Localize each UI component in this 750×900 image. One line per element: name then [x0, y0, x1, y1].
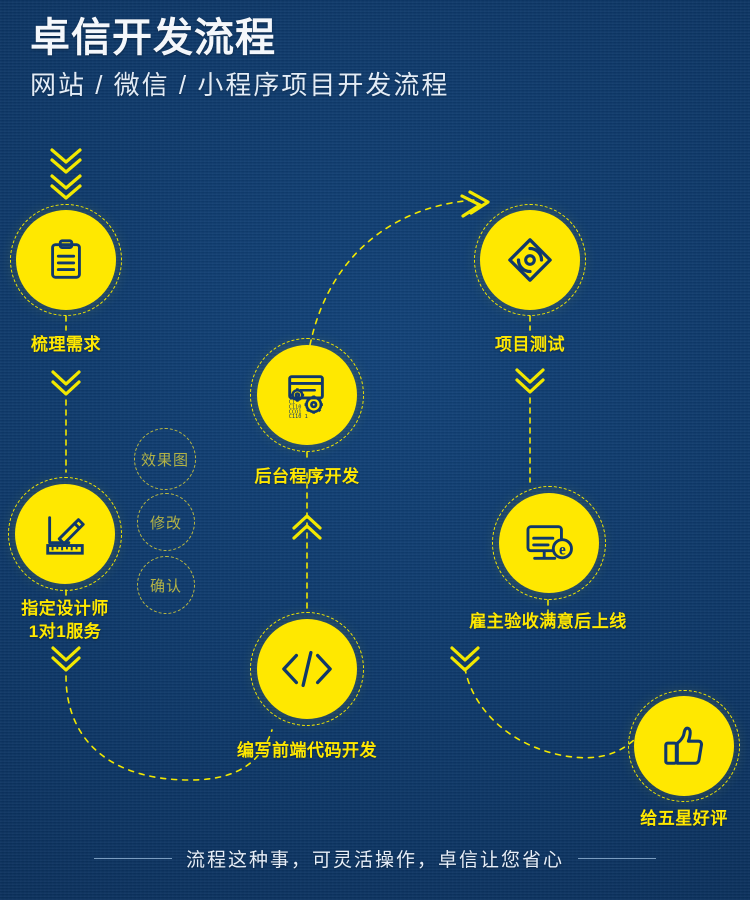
- step-disc-1[interactable]: [16, 210, 116, 310]
- flowchart-page: 卓信开发流程 网站 / 微信 / 小程序项目开发流程: [0, 0, 750, 900]
- bubble-label-rendering: 效果图: [141, 449, 189, 470]
- step-disc-6[interactable]: e: [499, 493, 599, 593]
- chevron-top-1: [52, 150, 80, 172]
- svg-text:e: e: [559, 541, 566, 558]
- backend-gears-icon: C1 C110 CCO1 C110 1: [282, 370, 332, 420]
- step-label-5: 项目测试: [464, 334, 596, 357]
- chevron-top-2: [52, 176, 80, 198]
- footer-line-left: [94, 858, 172, 859]
- footer-banner: 流程这种事，可灵活操作，卓信让您省心: [0, 845, 750, 872]
- wire-step3-to-step5: [310, 200, 475, 345]
- chevron-step6-down: [452, 648, 478, 670]
- svg-text:C110 1: C110 1: [289, 414, 308, 420]
- diamond-target-icon: [506, 236, 554, 284]
- ruler-pencil-icon: [40, 510, 90, 558]
- wire-step6-to-step7: [465, 668, 634, 758]
- step-label-2: 指定设计师 1对1服务: [0, 598, 135, 644]
- step-disc-3[interactable]: C1 C110 CCO1 C110 1: [257, 345, 357, 445]
- wire-step2-to-step4: [66, 676, 272, 780]
- bubble-revision[interactable]: 修改: [137, 493, 195, 551]
- chevron-step5-down: [517, 370, 543, 392]
- step-disc-7[interactable]: [634, 696, 734, 796]
- step-label-6: 雇主验收满意后上线: [438, 611, 658, 634]
- step-disc-5[interactable]: [480, 210, 580, 310]
- step-label-4: 编写前端代码开发: [222, 740, 392, 763]
- footer-line-right: [578, 858, 656, 859]
- clipboard-icon: [43, 237, 89, 283]
- bubble-label-confirmation: 确认: [150, 575, 182, 596]
- step-disc-2[interactable]: [15, 484, 115, 584]
- chevron-arc-arrowhead: [462, 192, 488, 216]
- thumbs-up-icon: [661, 723, 707, 769]
- step-label-3: 后台程序开发: [232, 466, 382, 489]
- footer-text: 流程这种事，可灵活操作，卓信让您省心: [186, 845, 564, 872]
- bubble-label-revision: 修改: [150, 512, 182, 533]
- chevron-step2-down: [53, 648, 79, 670]
- bubble-rendering[interactable]: 效果图: [134, 428, 196, 490]
- step-label-7: 给五星好评: [613, 808, 750, 831]
- step-label-1: 梳理需求: [0, 334, 132, 357]
- step-disc-4[interactable]: [257, 619, 357, 719]
- chevron-step1-down: [53, 372, 79, 394]
- bubble-confirmation[interactable]: 确认: [137, 556, 195, 614]
- code-brackets-icon: [279, 647, 335, 691]
- monitor-browser-icon: e: [523, 521, 575, 565]
